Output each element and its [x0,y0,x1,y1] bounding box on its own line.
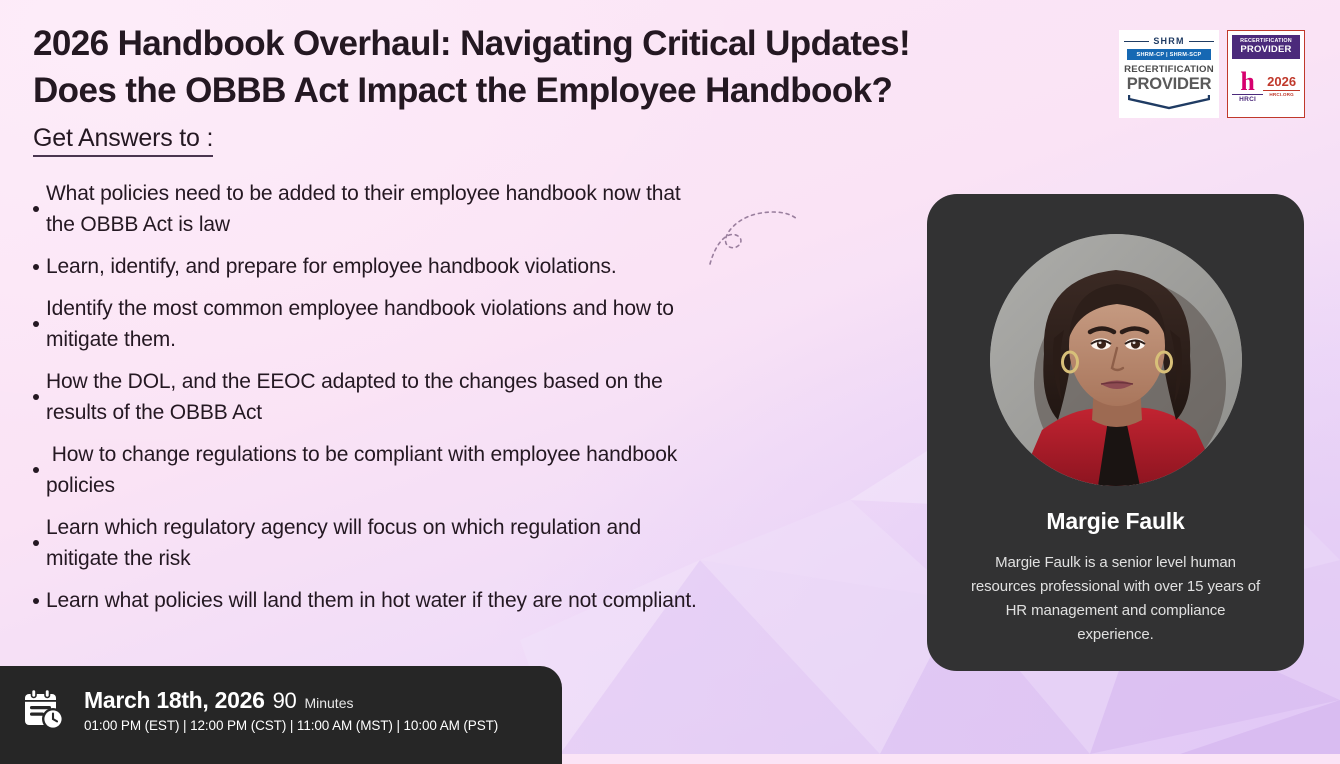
shrm-credentials-bar: SHRM-CP | SHRM-SCP [1127,49,1212,60]
hrci-year-label: 2026 [1263,75,1300,89]
hrci-recertification-provider-badge: RECERTIFICATION PROVIDER h HRCI 2026 HRC… [1227,30,1305,118]
shrm-rule-right [1189,41,1214,42]
certification-badges: SHRM SHRM-CP | SHRM-SCP RECERTIFICATION … [1119,30,1305,118]
list-item: Learn which regulatory agency will focus… [33,512,868,574]
bullet-dot-icon [33,321,39,327]
hrci-org-label: HRCI [1232,94,1263,103]
list-item: Identify the most common employee handbo… [33,293,868,355]
bullet-dot-icon [33,264,39,270]
bullet-dot-icon [33,467,39,473]
bullet-dot-icon [33,540,39,546]
event-datetime-text: March 18th, 2026 90 Minutes 01:00 PM (ES… [84,687,498,733]
bullet-dot-icon [33,394,39,400]
event-duration-value: 90 [273,688,297,714]
hrci-url-label: HRCI.ORG [1263,90,1300,97]
speaker-card: Margie Faulk Margie Faulk is a senior le… [927,194,1304,671]
shrm-header-row: SHRM [1124,36,1214,46]
shrm-chevron-icon [1128,94,1210,110]
title-line-2: Does the OBBB Act Impact the Employee Ha… [33,67,1043,114]
hrci-provider-label: PROVIDER [1233,44,1299,55]
list-item: How to change regulations to be complian… [33,439,868,501]
list-item-label: What policies need to be added to their … [46,178,681,240]
list-item-label: Learn, identify, and prepare for employe… [46,251,617,282]
list-item: Learn what policies will land them in ho… [33,585,868,616]
shrm-rule-left [1124,41,1149,42]
event-date: March 18th, 2026 [84,687,265,714]
bullet-dot-icon [33,206,39,212]
list-item-label: Learn which regulatory agency will focus… [46,512,641,574]
list-item: How the DOL, and the EEOC adapted to the… [33,366,868,428]
page-title: 2026 Handbook Overhaul: Navigating Criti… [33,20,1043,114]
speaker-name: Margie Faulk [1046,508,1184,535]
event-datetime-bar: March 18th, 2026 90 Minutes 01:00 PM (ES… [0,666,562,764]
shrm-provider-label: PROVIDER [1127,75,1212,93]
hrci-year-block: 2026 HRCI.ORG [1263,75,1300,97]
avatar [990,234,1242,486]
subheading-get-answers: Get Answers to : [33,124,213,157]
hrci-body: h HRCI 2026 HRCI.ORG [1232,59,1300,113]
hrci-header: RECERTIFICATION PROVIDER [1232,35,1300,59]
hrci-logo-block: h HRCI [1232,69,1263,103]
list-item-label: Identify the most common employee handbo… [46,293,674,355]
calendar-clock-icon [20,687,66,733]
event-timezones: 01:00 PM (EST) | 12:00 PM (CST) | 11:00 … [84,718,498,733]
title-line-1: 2026 Handbook Overhaul: Navigating Criti… [33,20,1043,67]
shrm-recertification-provider-badge: SHRM SHRM-CP | SHRM-SCP RECERTIFICATION … [1119,30,1219,118]
bullet-dot-icon [33,598,39,604]
hrci-logo-letter: h [1232,69,1263,94]
speaker-portrait-image [990,234,1242,486]
curly-arrow-doodle-icon [706,206,802,268]
event-date-row: March 18th, 2026 90 Minutes [84,687,498,714]
speaker-bio: Margie Faulk is a senior level human res… [966,551,1266,647]
shrm-org-label: SHRM [1153,36,1184,46]
shrm-recertification-label: RECERTIFICATION [1124,64,1214,75]
list-item-label: How to change regulations to be complian… [46,439,677,501]
list-item-label: How the DOL, and the EEOC adapted to the… [46,366,663,428]
list-item-label: Learn what policies will land them in ho… [46,585,697,616]
event-duration-unit: Minutes [304,695,353,711]
